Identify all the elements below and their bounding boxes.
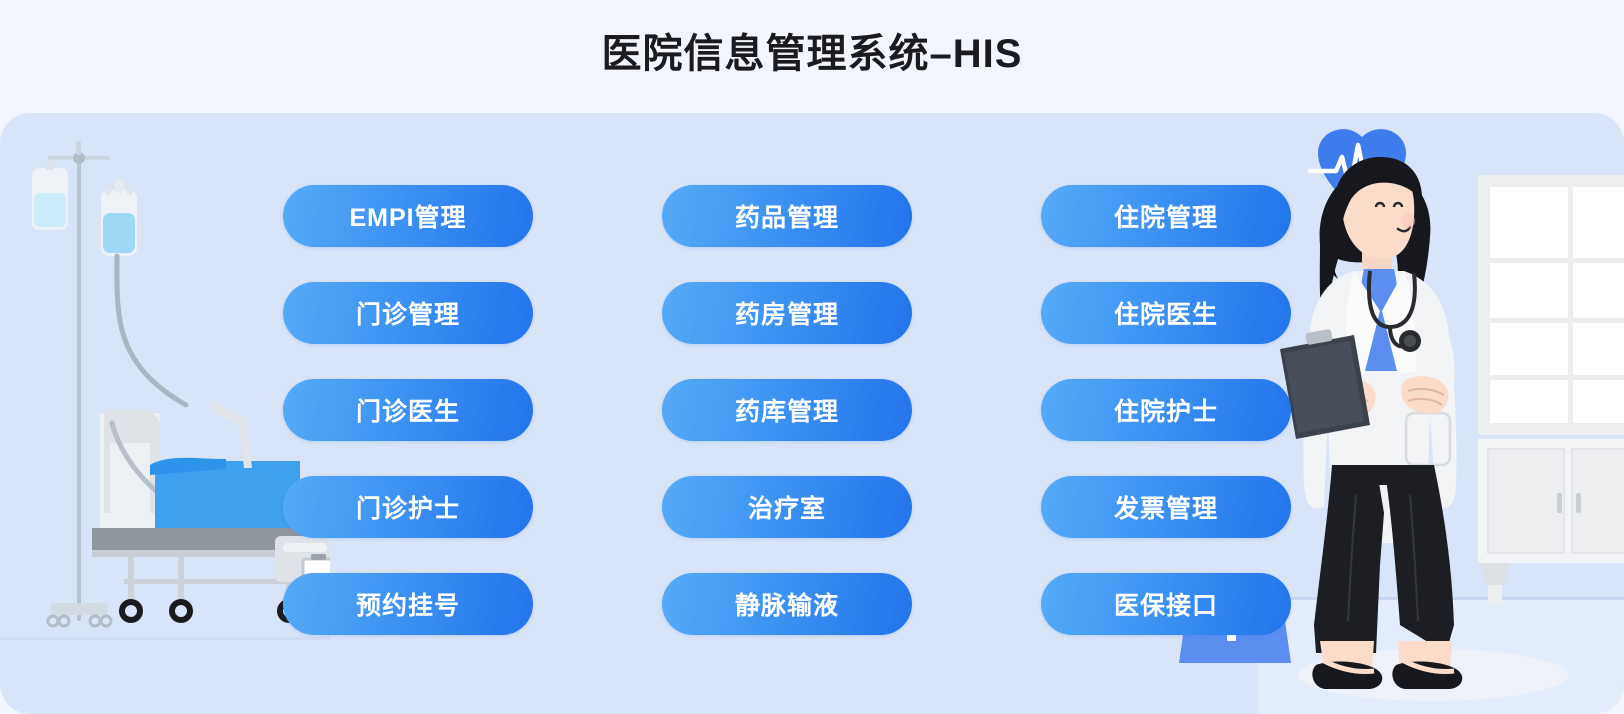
module-button-drug-management[interactable]: 药品管理 [662,185,912,247]
iv-drip-bag-icon [32,161,68,230]
module-button-outpatient-doctor[interactable]: 门诊医生 [283,379,533,441]
module-button-treatment-room[interactable]: 治疗室 [662,476,912,538]
module-button-medical-insurance-interface[interactable]: 医保接口 [1041,573,1291,635]
his-portal-page: 医院信息管理系统–HIS [0,0,1624,714]
module-button-pharmacy-management[interactable]: 药房管理 [662,282,912,344]
module-button-intravenous-infusion[interactable]: 静脉输液 [662,573,912,635]
module-button-inpatient-doctor[interactable]: 住院医生 [1041,282,1291,344]
module-button-grid: EMPI管理 药品管理 住院管理 门诊管理 药房管理 住院医生 门诊医生 药库管… [283,185,1289,635]
modules-panel: EMPI管理 药品管理 住院管理 门诊管理 药房管理 住院医生 门诊医生 药库管… [0,113,1624,714]
module-button-inpatient-management[interactable]: 住院管理 [1041,185,1291,247]
module-button-inpatient-nurse[interactable]: 住院护士 [1041,379,1291,441]
bed-wheel-icon [122,602,140,620]
hospital-bed-illustration [0,113,330,714]
bed-wheel-icon [172,602,190,620]
module-button-empi-management[interactable]: EMPI管理 [283,185,533,247]
iv-drip-bag-icon [101,179,186,405]
doctor-illustration [1258,113,1624,714]
module-button-invoice-management[interactable]: 发票管理 [1041,476,1291,538]
module-button-appointment-registration[interactable]: 预约挂号 [283,573,533,635]
module-button-drug-warehouse-management[interactable]: 药库管理 [662,379,912,441]
module-button-outpatient-management[interactable]: 门诊管理 [283,282,533,344]
window-icon [1478,175,1624,435]
page-title: 医院信息管理系统–HIS [0,28,1624,80]
module-button-outpatient-nurse[interactable]: 门诊护士 [283,476,533,538]
